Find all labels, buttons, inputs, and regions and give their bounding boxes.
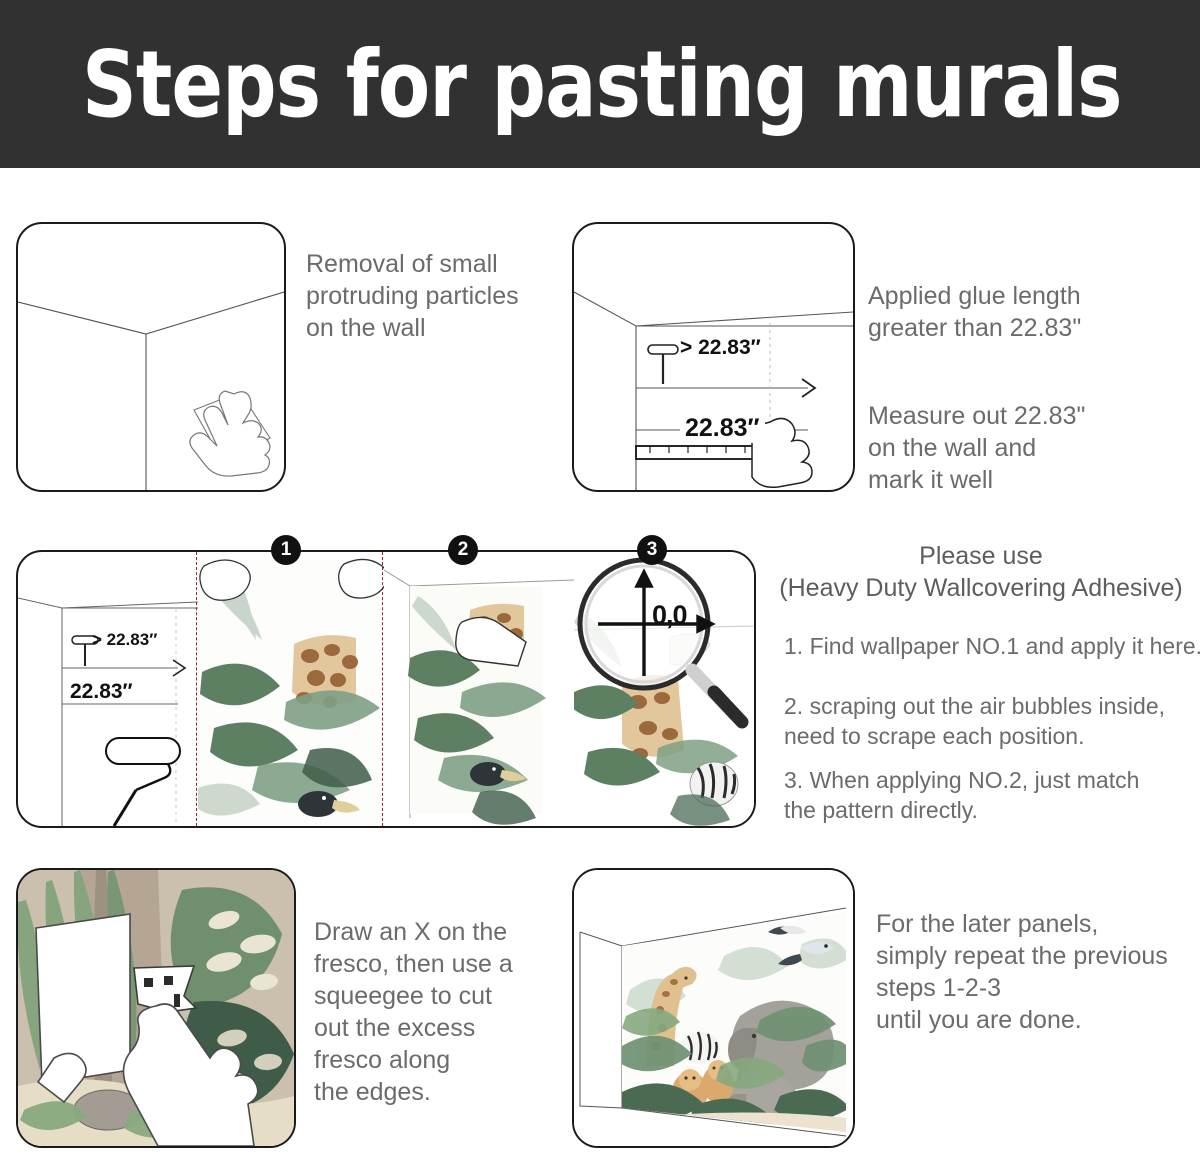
instructions-heading-line2: (Heavy Duty Wallcovering Adhesive) [766,572,1196,605]
hand-icon [190,391,270,476]
wallpaper-strip-2 [384,552,574,826]
label-origin: 0,0 [652,600,687,631]
caption-finished-mural: For the later panels, simply repeat the … [876,908,1200,1036]
seam-line-left [196,552,197,826]
caption-glue-length: Applied glue length greater than 22.83" [868,280,1158,344]
panel-measure-glue: > 22.83″ 22.83″ [572,222,855,492]
caption-trim-excess: Draw an X on the fresco, then use a sque… [314,916,554,1108]
instructions-heading-line1: Please use [766,540,1196,573]
magnifier-icon [574,552,756,826]
instruction-item-2: 2. scraping out the air bubbles inside, … [784,692,1200,752]
caption-prep-wall: Removal of small protruding particles on… [306,248,566,344]
badge-step-2: 2 [448,535,478,565]
instruction-item-1: 1. Find wallpaper NO.1 and apply it here… [784,632,1200,662]
page-title: Steps for pasting murals [82,31,1122,138]
panel-prep-wall [16,222,286,492]
magnifier-handle-icon [692,670,742,722]
paint-roller-icon [106,738,180,826]
badge-step-1: 1 [271,535,301,565]
panel-finished-mural [572,868,855,1148]
label-measure-distance: 22.83″ [680,414,765,443]
squeegee-card-icon [36,914,130,1084]
wall-corner-diagram [18,224,284,490]
finished-mural-art [574,870,853,1146]
wallpaper-strip-1 [198,552,384,826]
panel-trim-excess [16,868,296,1148]
tape-measure-icon [636,446,771,459]
header-banner: Steps for pasting murals [0,0,1200,168]
label-glue-length: > 22.83″ [680,336,761,360]
badge-step-3: 3 [637,535,667,565]
seam-line-mid [382,552,383,826]
trim-fresco-art [18,870,294,1146]
glue-roller-icon [648,345,678,384]
label-measure-mid: 22.83″ [70,680,133,704]
label-glue-length-mid: > 22.83″ [92,630,157,650]
instruction-item-3: 3. When applying NO.2, just match the pa… [784,766,1200,826]
hands-icon [198,556,384,626]
wallpaper-strip-3: 0,0 [574,552,756,826]
zebra-art [680,1032,720,1064]
caption-measure-mark: Measure out 22.83" on the wall and mark … [868,400,1168,496]
panel-apply-steps: > 22.83″ 22.83″ [16,550,756,828]
